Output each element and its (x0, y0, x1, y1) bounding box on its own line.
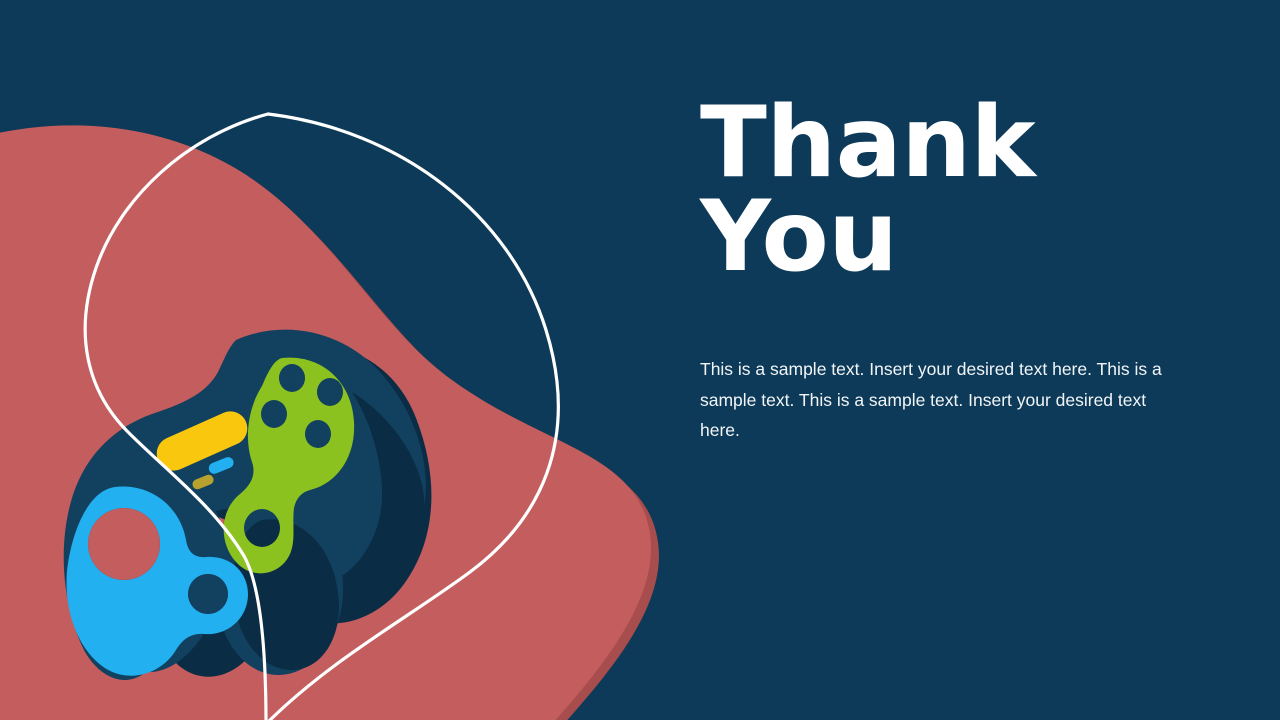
dpad-small-hole (188, 574, 228, 614)
dpad-ring-hole (88, 508, 160, 580)
page-title: Thank You (700, 96, 1180, 284)
game-controller-illustration (0, 0, 700, 720)
body-paragraph: This is a sample text. Insert your desir… (700, 354, 1178, 446)
text-column: Thank You This is a sample text. Insert … (700, 0, 1220, 720)
slide-canvas: Thank You This is a sample text. Insert … (0, 0, 1280, 720)
